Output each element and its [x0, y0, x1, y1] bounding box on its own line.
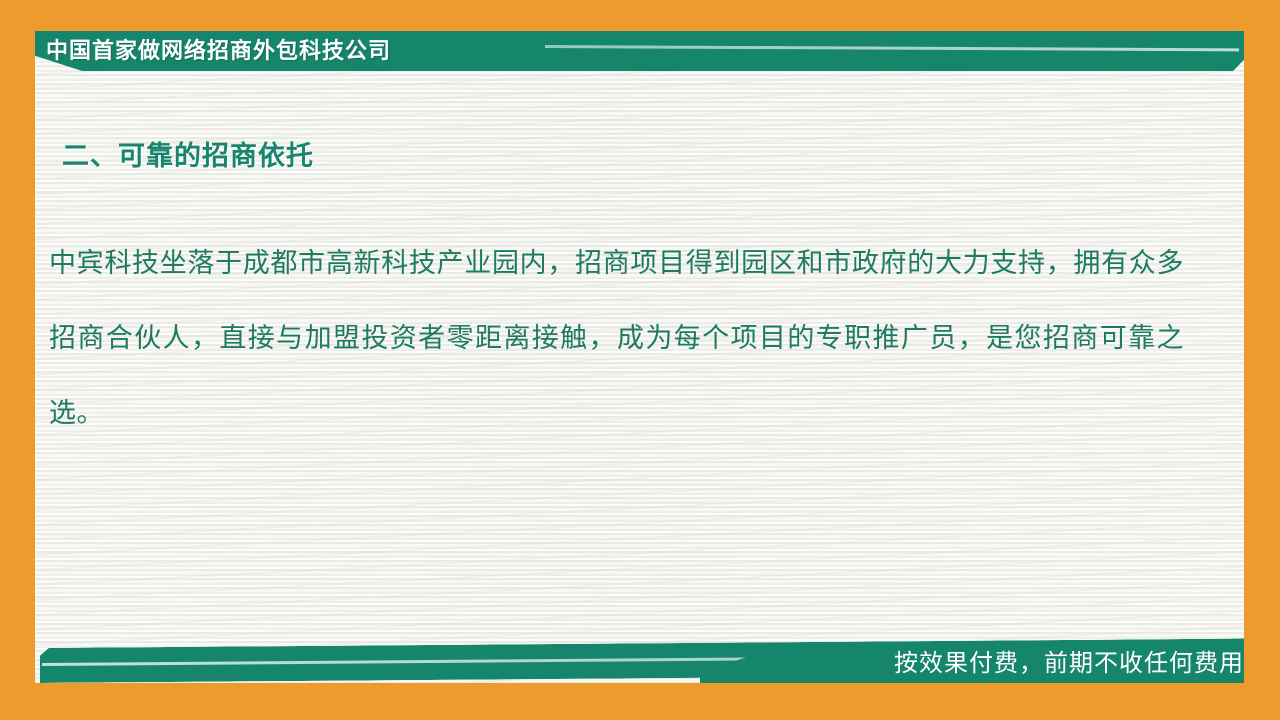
- slide-border-right: [1244, 0, 1280, 720]
- presentation-slide: 中国首家做网络招商外包科技公司 二、可靠的招商依托 中宾科技坐落于成都市高新科技…: [0, 0, 1280, 720]
- section-heading: 二、可靠的招商依托: [62, 134, 314, 173]
- body-paragraph: 中宾科技坐落于成都市高新科技产业园内，招商项目得到园区和市政府的大力支持，拥有众…: [49, 226, 1184, 451]
- footer-tagline: 按效果付费，前期不收任何费用: [894, 648, 1244, 680]
- header-title: 中国首家做网络招商外包科技公司: [46, 34, 391, 68]
- slide-border-left: [0, 0, 35, 720]
